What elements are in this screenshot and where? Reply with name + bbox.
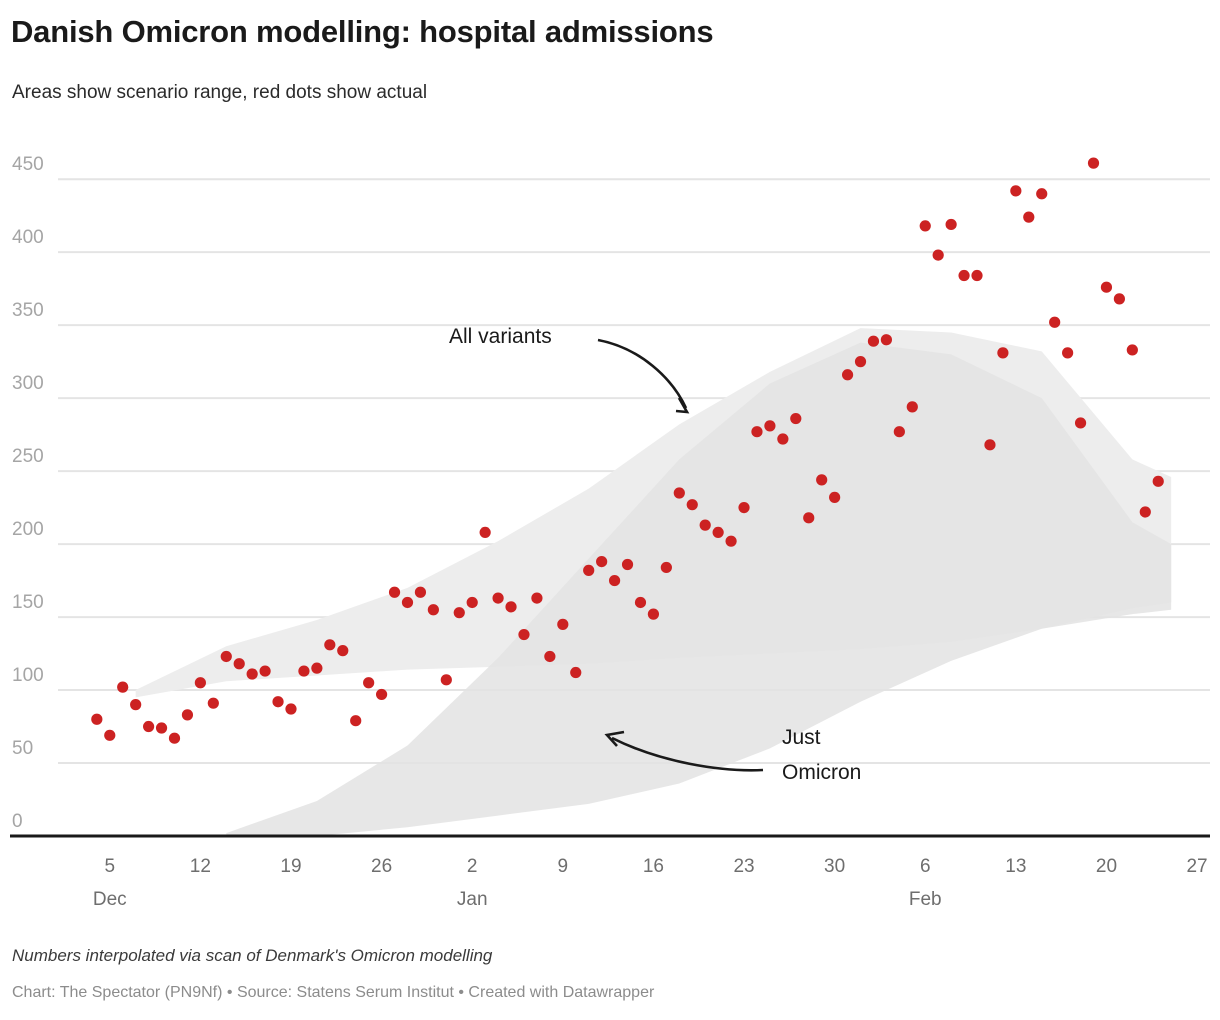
data-point	[1023, 212, 1034, 223]
ytick-labels-group: 050100150200250300350400450	[12, 154, 44, 832]
data-point	[1010, 185, 1021, 196]
data-point	[104, 730, 115, 741]
data-point	[544, 651, 555, 662]
data-point	[298, 665, 309, 676]
data-point	[285, 703, 296, 714]
data-point	[700, 520, 711, 531]
data-point	[609, 575, 620, 586]
data-point	[596, 556, 607, 567]
annotation-just-omicron-label-line1: Just	[782, 726, 821, 749]
data-point	[221, 651, 232, 662]
data-point	[195, 677, 206, 688]
data-point	[1075, 417, 1086, 428]
data-point	[674, 487, 685, 498]
data-point	[687, 499, 698, 510]
xtick-label-month: Feb	[909, 889, 942, 910]
data-point	[583, 565, 594, 576]
data-point	[738, 502, 749, 513]
data-point	[725, 536, 736, 547]
xtick-label-day: 5	[104, 856, 115, 877]
data-point	[91, 714, 102, 725]
data-point	[764, 420, 775, 431]
data-point	[868, 336, 879, 347]
data-point	[570, 667, 581, 678]
chart-credit: Chart: The Spectator (PN9Nf) • Source: S…	[12, 984, 654, 1002]
chart-plot-area: 050100150200250300350400450 5Dec1219262J…	[0, 0, 1220, 1020]
xtick-label-day: 9	[558, 856, 569, 877]
ytick-label: 200	[12, 519, 44, 540]
data-point	[428, 604, 439, 615]
data-point	[402, 597, 413, 608]
data-point	[881, 334, 892, 345]
data-point	[311, 663, 322, 674]
data-point	[156, 722, 167, 733]
data-point	[648, 609, 659, 620]
ytick-label: 350	[12, 300, 44, 321]
ytick-label: 250	[12, 446, 44, 467]
annotation-all-variants-label: All variants	[449, 325, 552, 348]
xtick-labels-group: 5Dec1219262Jan91623306Feb132027	[93, 856, 1208, 910]
xtick-label-day: 26	[371, 856, 392, 877]
annotation-just-omicron-label-line2: Omicron	[782, 761, 861, 784]
data-point	[790, 413, 801, 424]
xtick-label-day: 13	[1005, 856, 1026, 877]
xtick-label-day: 19	[280, 856, 301, 877]
ytick-label: 300	[12, 373, 44, 394]
xtick-label-day: 2	[467, 856, 478, 877]
data-point	[958, 270, 969, 281]
xtick-label-month: Jan	[457, 889, 488, 910]
data-point	[1088, 158, 1099, 169]
data-point	[531, 592, 542, 603]
data-point	[350, 715, 361, 726]
data-point	[622, 559, 633, 570]
data-point	[260, 665, 271, 676]
data-point	[855, 356, 866, 367]
ytick-label: 150	[12, 592, 44, 613]
data-point	[829, 492, 840, 503]
data-point	[143, 721, 154, 732]
data-point	[1114, 293, 1125, 304]
data-point	[272, 696, 283, 707]
data-point	[557, 619, 568, 630]
xtick-label-day: 6	[920, 856, 931, 877]
data-point	[635, 597, 646, 608]
data-point	[208, 698, 219, 709]
data-point	[441, 674, 452, 685]
data-point	[389, 587, 400, 598]
data-point	[130, 699, 141, 710]
data-point	[480, 527, 491, 538]
xtick-label-month: Dec	[93, 889, 127, 910]
ytick-label: 50	[12, 738, 33, 759]
data-point	[971, 270, 982, 281]
data-point	[492, 592, 503, 603]
xtick-label-day: 16	[643, 856, 664, 877]
data-point	[1101, 282, 1112, 293]
data-point	[324, 639, 335, 650]
xtick-label-day: 30	[824, 856, 845, 877]
data-point	[1140, 506, 1151, 517]
xtick-label-day: 20	[1096, 856, 1117, 877]
data-point	[415, 587, 426, 598]
data-point	[337, 645, 348, 656]
data-point	[816, 474, 827, 485]
data-point	[169, 733, 180, 744]
data-point	[777, 433, 788, 444]
data-point	[454, 607, 465, 618]
data-point	[803, 512, 814, 523]
data-point	[1036, 188, 1047, 199]
data-point	[1062, 347, 1073, 358]
data-point	[946, 219, 957, 230]
chart-notes: Numbers interpolated via scan of Denmark…	[12, 946, 492, 966]
ytick-label: 100	[12, 665, 44, 686]
data-point	[505, 601, 516, 612]
chart-container: Danish Omicron modelling: hospital admis…	[0, 0, 1220, 1020]
data-point	[933, 249, 944, 260]
xtick-label-day: 12	[190, 856, 211, 877]
data-point	[1127, 344, 1138, 355]
data-point	[713, 527, 724, 538]
data-point	[1049, 317, 1060, 328]
data-point	[842, 369, 853, 380]
xtick-label-day: 27	[1186, 856, 1207, 877]
data-point	[363, 677, 374, 688]
data-point	[661, 562, 672, 573]
data-point	[894, 426, 905, 437]
data-point	[907, 401, 918, 412]
data-point	[984, 439, 995, 450]
data-point	[518, 629, 529, 640]
ytick-label: 400	[12, 227, 44, 248]
data-point	[751, 426, 762, 437]
data-point	[920, 220, 931, 231]
ytick-label: 0	[12, 811, 23, 832]
data-point	[376, 689, 387, 700]
xtick-label-day: 23	[733, 856, 754, 877]
data-point	[234, 658, 245, 669]
data-point	[247, 668, 258, 679]
data-point	[182, 709, 193, 720]
data-point	[117, 682, 128, 693]
data-point	[467, 597, 478, 608]
ytick-label: 450	[12, 154, 44, 175]
data-point	[1153, 476, 1164, 487]
data-point	[997, 347, 1008, 358]
